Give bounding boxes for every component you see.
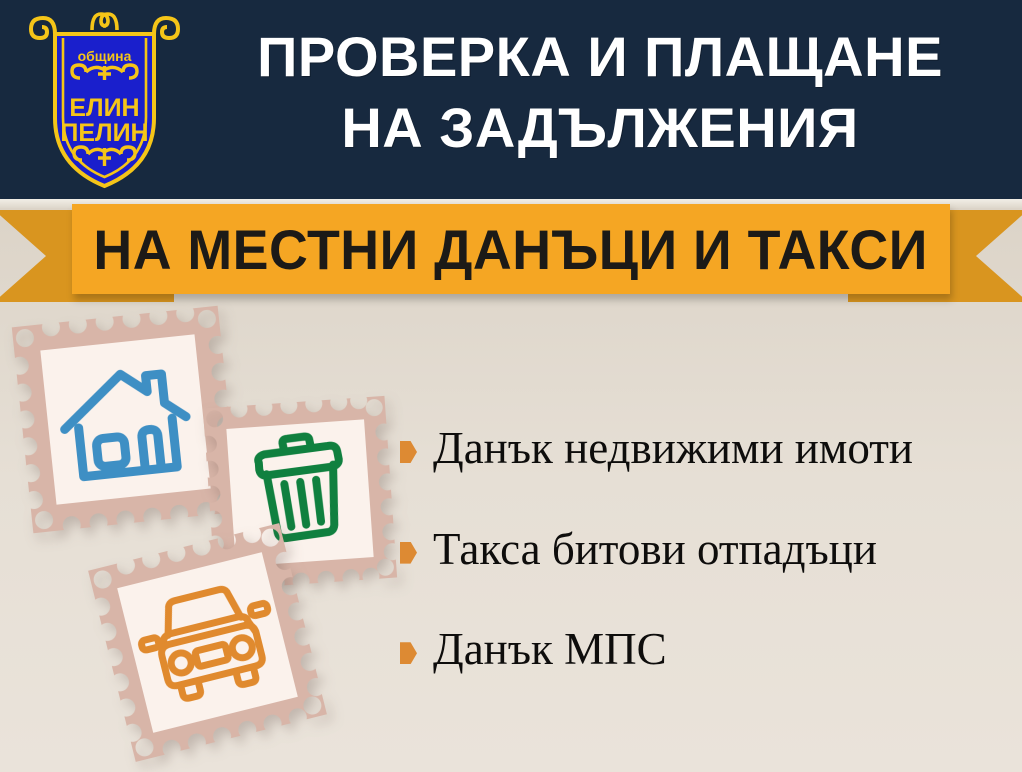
coat-of-arms-elin-pelin: община ЕЛИН ПЕЛИН	[22, 8, 187, 193]
poster-root: община ЕЛИН ПЕЛИН ПРОВЕРКА И ПЛАЩАНЕ НА …	[0, 0, 1022, 772]
tax-type-list: Данък недвижими имоти Такса битови отпад…	[400, 424, 1020, 726]
ribbon-main-panel: НА МЕСТНИ ДАНЪЦИ И ТАКСИ	[72, 204, 950, 294]
page-title-line-2: НА ЗАДЪЛЖЕНИЯ	[190, 93, 1010, 164]
crest-name-line2: ПЕЛИН	[60, 119, 148, 147]
ribbon-banner: НА МЕСТНИ ДАНЪЦИ И ТАКСИ	[0, 204, 1022, 309]
crest-municipality-word: община	[78, 48, 132, 64]
ribbon-label: НА МЕСТНИ ДАНЪЦИ И ТАКСИ	[94, 217, 928, 282]
list-item[interactable]: Такса битови отпадъци	[400, 525, 1020, 574]
bullet-arrow-icon	[400, 542, 417, 564]
list-item-label: Такса битови отпадъци	[433, 525, 877, 574]
list-item[interactable]: Данък МПС	[400, 625, 1020, 674]
page-title: ПРОВЕРКА И ПЛАЩАНЕ НА ЗАДЪЛЖЕНИЯ	[190, 22, 1010, 163]
list-item-label: Данък недвижими имоти	[433, 424, 913, 473]
list-item[interactable]: Данък недвижими имоти	[400, 424, 1020, 473]
crest-name-line1: ЕЛИН	[69, 94, 139, 122]
bullet-arrow-icon	[400, 441, 417, 463]
list-item-label: Данък МПС	[433, 625, 667, 674]
bullet-arrow-icon	[400, 642, 417, 664]
page-title-line-1: ПРОВЕРКА И ПЛАЩАНЕ	[190, 22, 1010, 93]
